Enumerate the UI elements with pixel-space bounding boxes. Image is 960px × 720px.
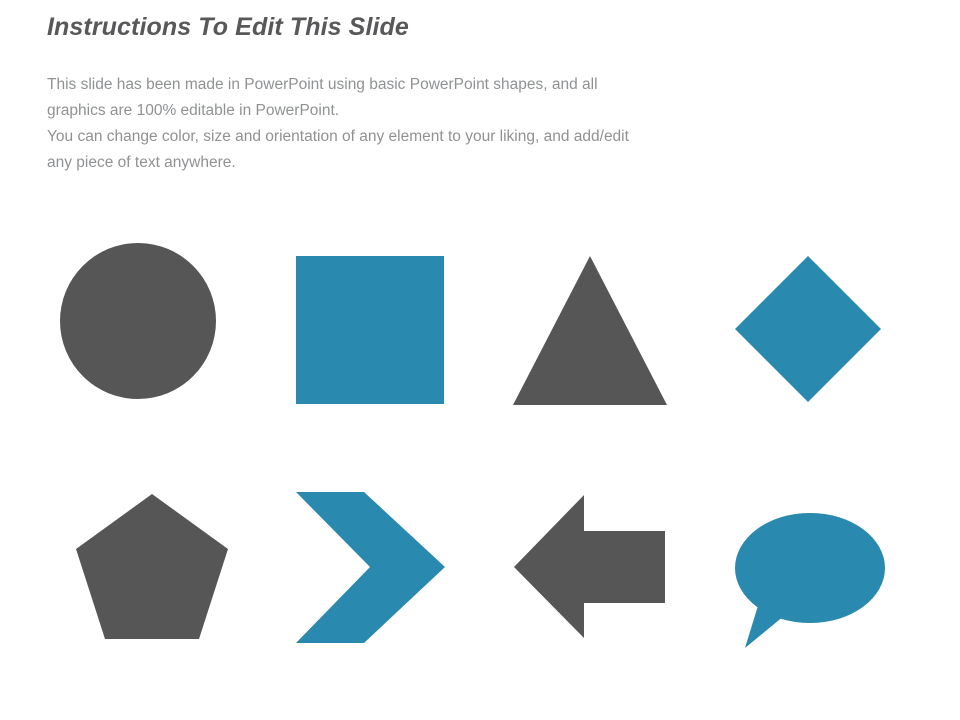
shape-gallery bbox=[0, 225, 960, 685]
instructions-paragraph-2: You can change color, size and orientati… bbox=[47, 124, 869, 176]
chevron-right-icon bbox=[278, 483, 458, 658]
square-shape[interactable] bbox=[278, 235, 498, 415]
circle-shape[interactable] bbox=[60, 235, 280, 415]
instructions-paragraph-1: This slide has been made in PowerPoint u… bbox=[47, 72, 869, 124]
paragraph-1-line-1: This slide has been made in PowerPoint u… bbox=[47, 76, 598, 93]
pentagon-shape[interactable] bbox=[60, 483, 280, 663]
pentagon-icon bbox=[60, 483, 240, 653]
speech-bubble-icon bbox=[715, 483, 905, 663]
paragraph-1-line-2: graphics are 100% editable in PowerPoint… bbox=[47, 98, 869, 124]
square-icon bbox=[278, 235, 458, 405]
diamond-shape[interactable] bbox=[715, 235, 935, 415]
paragraph-2-line-2: any piece of text anywhere. bbox=[47, 150, 869, 176]
slide-canvas: Instructions To Edit This Slide This sli… bbox=[0, 0, 960, 720]
arrow-left-shape[interactable] bbox=[495, 483, 715, 663]
instructions-text-block: This slide has been made in PowerPoint u… bbox=[47, 72, 869, 176]
speech-bubble-shape[interactable] bbox=[715, 483, 935, 663]
chevron-right-shape[interactable] bbox=[278, 483, 498, 663]
paragraph-2-line-1: You can change color, size and orientati… bbox=[47, 128, 629, 145]
triangle-icon bbox=[495, 235, 685, 410]
arrow-left-icon bbox=[495, 483, 685, 658]
triangle-shape[interactable] bbox=[495, 235, 715, 415]
circle-icon bbox=[60, 235, 240, 405]
page-title: Instructions To Edit This Slide bbox=[47, 12, 907, 42]
diamond-icon bbox=[715, 235, 900, 410]
